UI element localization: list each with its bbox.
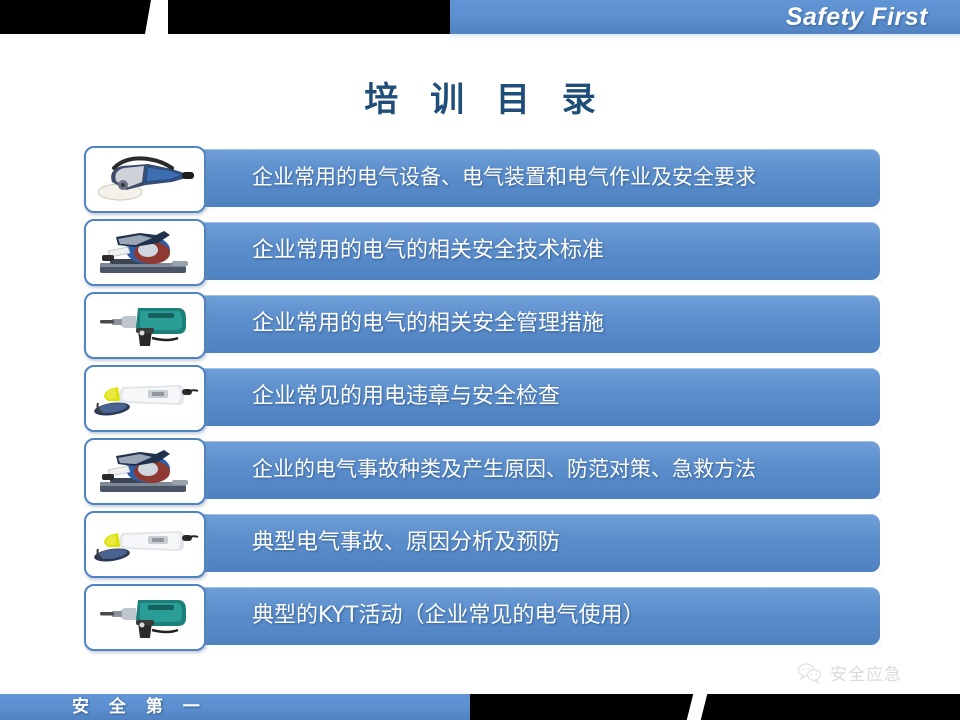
toc-item-6[interactable]: 典型电气事故、原因分析及预防 [84,511,880,574]
angle-grinder-icon [84,365,206,432]
footer-blue-block [0,694,470,720]
header-black-block-left [0,0,152,34]
toc-item-label: 企业的电气事故种类及产生原因、防范对策、急救方法 [252,438,756,501]
angle-grinder-icon [84,511,206,578]
chop-saw-icon [84,219,206,286]
toc-item-7[interactable]: 典型的KYT活动（企业常见的电气使用） [84,584,880,647]
footer-bar: 安 全 第 一 [0,694,960,720]
toc-item-label: 企业常见的用电违章与安全检查 [252,365,560,428]
toc-item-label: 典型电气事故、原因分析及预防 [252,511,560,574]
electric-drill-icon [84,584,206,651]
toc-item-label: 典型的KYT活动（企业常见的电气使用） [252,584,645,647]
header-brand-text: Safety First [786,1,928,34]
header-black-block-right [168,0,450,34]
chop-saw-icon [84,438,206,505]
header-glow [450,34,960,40]
toc-item-label: 企业常用的电气设备、电气装置和电气作业及安全要求 [252,146,756,209]
wechat-bubbles-icon [797,662,823,684]
toc-item-label: 企业常用的电气的相关安全技术标准 [252,219,604,282]
toc-item-4[interactable]: 企业常见的用电违章与安全检查 [84,365,880,428]
footer-black-block [470,694,960,720]
header-bar: Safety First [0,0,960,34]
page-title: 培 训 目 录 [0,72,960,121]
watermark: 安全应急 [797,660,902,685]
toc-item-3[interactable]: 企业常用的电气的相关安全管理措施 [84,292,880,355]
toc-list: 企业常用的电气设备、电气装置和电气作业及安全要求 企业常用的电气的相关安全技术标… [84,146,880,657]
electric-drill-icon [84,292,206,359]
toc-item-1[interactable]: 企业常用的电气设备、电气装置和电气作业及安全要求 [84,146,880,209]
toc-item-5[interactable]: 企业的电气事故种类及产生原因、防范对策、急救方法 [84,438,880,501]
footer-slogan: 安 全 第 一 [72,694,207,720]
toc-item-2[interactable]: 企业常用的电气的相关安全技术标准 [84,219,880,282]
toc-item-label: 企业常用的电气的相关安全管理措施 [252,292,604,355]
angle-polisher-icon [84,146,206,213]
watermark-text: 安全应急 [830,660,902,685]
